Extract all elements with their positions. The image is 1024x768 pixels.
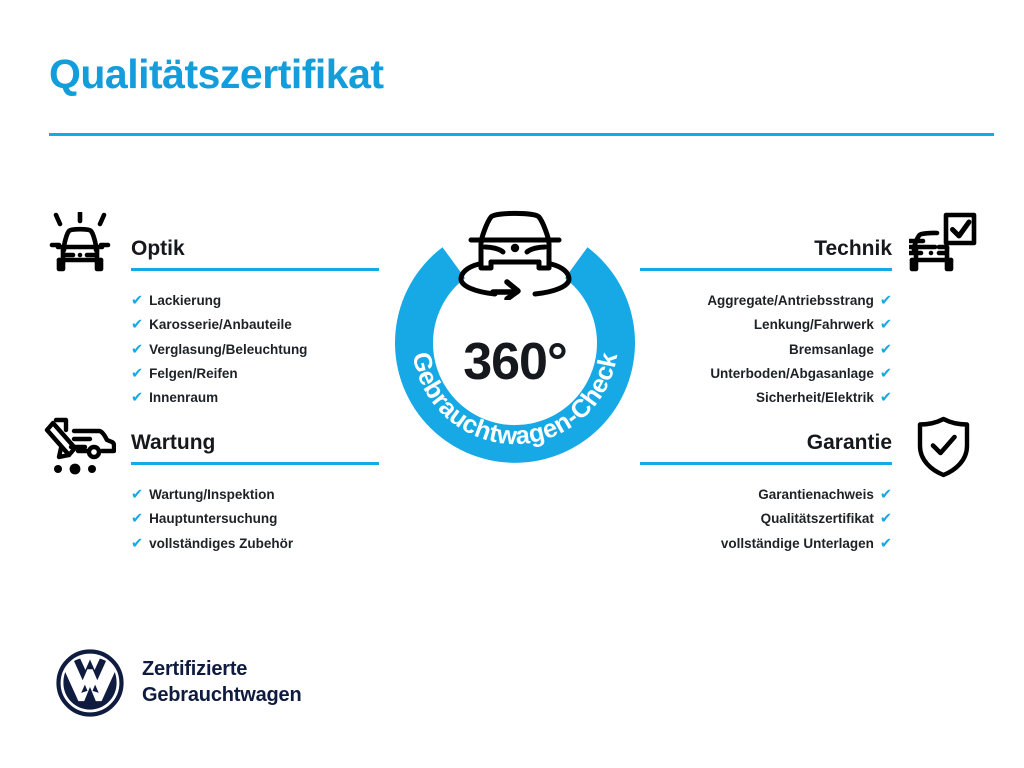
list-item: ✔Innenraum <box>131 386 379 410</box>
list-item-label: Felgen/Reifen <box>149 362 238 385</box>
list-item-label: Aggregate/Antriebsstrang <box>707 289 874 312</box>
check-icon: ✔ <box>131 290 143 313</box>
page-title: Qualitätszertifikat <box>49 52 384 97</box>
wartung-item-list: ✔Wartung/Inspektion ✔Hauptuntersuchung ✔… <box>131 483 379 556</box>
footer-branding: Zertifizierte Gebrauchtwagen <box>55 648 301 718</box>
section-divider-optik <box>131 268 379 271</box>
section-garantie: Garantie Garantienachweis✔ Qualitätszert… <box>640 432 892 556</box>
list-item-label: Garantienachweis <box>758 483 874 506</box>
list-item-label: Hauptuntersuchung <box>149 507 277 530</box>
list-item: Sicherheit/Elektrik✔ <box>640 386 892 410</box>
list-item: Aggregate/Antriebsstrang✔ <box>640 289 892 313</box>
check-icon: ✔ <box>880 339 892 362</box>
list-item: Bremsanlage✔ <box>640 338 892 362</box>
list-item-label: Bremsanlage <box>789 338 874 361</box>
section-wartung: Wartung ✔Wartung/Inspektion ✔Hauptunters… <box>131 432 379 556</box>
shield-check-icon <box>916 416 971 483</box>
list-item: ✔Lackierung <box>131 289 379 313</box>
list-item: Unterboden/Abgasanlage✔ <box>640 362 892 386</box>
check-icon: ✔ <box>880 387 892 410</box>
list-item-label: Sicherheit/Elektrik <box>756 386 874 409</box>
list-item: ✔Verglasung/Beleuchtung <box>131 338 379 362</box>
list-item: Garantienachweis✔ <box>640 483 892 507</box>
list-item-label: Innenraum <box>149 386 218 409</box>
service-record-pencil-car-icon <box>44 417 116 480</box>
section-optik: Optik ✔Lackierung ✔Karosserie/Anbauteile… <box>131 238 379 410</box>
volkswagen-logo <box>55 648 125 718</box>
title-divider <box>49 133 994 136</box>
list-item: Lenkung/Fahrwerk✔ <box>640 313 892 337</box>
section-divider-wartung <box>131 462 379 465</box>
list-item-label: Qualitätszertifikat <box>761 507 874 530</box>
360-gebrauchtwagen-check-badge: Gebrauchtwagen-Check 360° <box>370 196 660 486</box>
section-title-technik: Technik <box>640 238 892 268</box>
check-icon: ✔ <box>131 508 143 531</box>
car-checkbox-icon <box>909 212 977 279</box>
section-title-wartung: Wartung <box>131 432 379 462</box>
check-icon: ✔ <box>131 533 143 556</box>
section-title-garantie: Garantie <box>640 432 892 462</box>
check-icon: ✔ <box>131 339 143 362</box>
section-divider-technik <box>640 268 892 271</box>
badge-center-text: 360° <box>370 336 660 388</box>
section-divider-garantie <box>640 462 892 465</box>
list-item: ✔Felgen/Reifen <box>131 362 379 386</box>
list-item-label: Lenkung/Fahrwerk <box>754 313 874 336</box>
check-icon: ✔ <box>131 363 143 386</box>
list-item: ✔vollständiges Zubehör <box>131 532 379 556</box>
list-item: ✔Wartung/Inspektion <box>131 483 379 507</box>
list-item: vollständige Unterlagen✔ <box>640 532 892 556</box>
list-item: ✔Karosserie/Anbauteile <box>131 313 379 337</box>
check-icon: ✔ <box>880 290 892 313</box>
list-item-label: vollständiges Zubehör <box>149 532 293 555</box>
qualitaetszertifikat-page: Qualitätszertifikat Optik ✔Lackierung ✔K… <box>0 0 1024 768</box>
check-icon: ✔ <box>880 508 892 531</box>
list-item-label: Unterboden/Abgasanlage <box>710 362 874 385</box>
check-icon: ✔ <box>131 484 143 507</box>
car-shine-icon <box>47 212 113 279</box>
list-item-label: Karosserie/Anbauteile <box>149 313 292 336</box>
list-item-label: Wartung/Inspektion <box>149 483 275 506</box>
list-item-label: vollständige Unterlagen <box>721 532 874 555</box>
check-icon: ✔ <box>131 314 143 337</box>
technik-item-list: Aggregate/Antriebsstrang✔ Lenkung/Fahrwe… <box>640 289 892 410</box>
list-item-label: Lackierung <box>149 289 221 312</box>
car-rotate-icon <box>455 200 575 300</box>
check-icon: ✔ <box>131 387 143 410</box>
list-item-label: Verglasung/Beleuchtung <box>149 338 307 361</box>
section-title-optik: Optik <box>131 238 379 268</box>
garantie-item-list: Garantienachweis✔ Qualitätszertifikat✔ v… <box>640 483 892 556</box>
check-icon: ✔ <box>880 314 892 337</box>
list-item: Qualitätszertifikat✔ <box>640 507 892 531</box>
section-technik: Technik Aggregate/Antriebsstrang✔ Lenkun… <box>640 238 892 410</box>
check-icon: ✔ <box>880 533 892 556</box>
optik-item-list: ✔Lackierung ✔Karosserie/Anbauteile ✔Verg… <box>131 289 379 410</box>
check-icon: ✔ <box>880 363 892 386</box>
footer-claim-line1: Zertifizierte <box>142 657 301 683</box>
footer-claim: Zertifizierte Gebrauchtwagen <box>142 657 301 708</box>
check-icon: ✔ <box>880 484 892 507</box>
footer-claim-line2: Gebrauchtwagen <box>142 683 301 709</box>
list-item: ✔Hauptuntersuchung <box>131 507 379 531</box>
